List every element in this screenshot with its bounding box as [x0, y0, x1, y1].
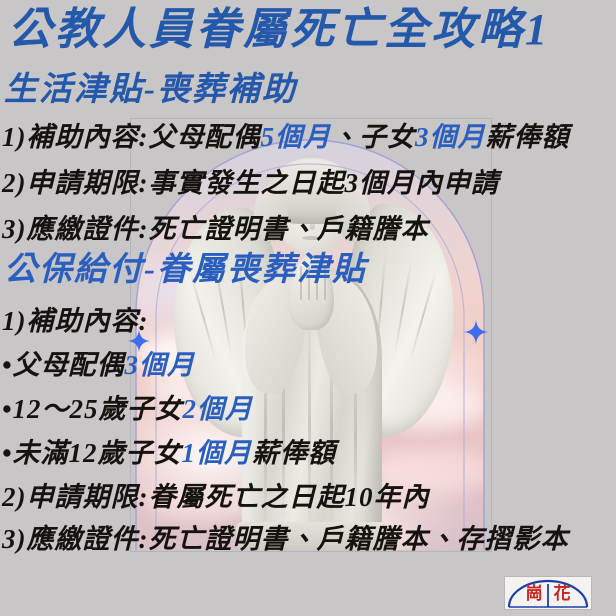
poster-canvas: 公教人員眷屬死亡全攻略1 生活津貼-喪葬補助 1)補助內容:父母配偶5個月、子女…: [0, 0, 616, 616]
list-item-s2-2: 2)申請期限:眷屬死亡之日起10年內: [2, 484, 429, 511]
text-layer: 公教人員眷屬死亡全攻略1 生活津貼-喪葬補助 1)補助內容:父母配偶5個月、子女…: [0, 0, 616, 616]
bullet-item-children-under-12: •未滿12歲子女1個月薪俸額: [2, 440, 336, 467]
text-run-highlight: 3個月: [415, 122, 486, 152]
text-run-highlight: 2個月: [182, 394, 253, 424]
bullet-item-children-12-25: •12～25歲子女2個月: [2, 396, 253, 423]
text-run: •父母配偶: [2, 350, 124, 380]
bullet-item-parents-spouse: •父母配偶3個月: [2, 352, 195, 379]
list-item-s1-2: 2)申請期限:事實發生之日起3個月內申請: [2, 170, 499, 197]
list-item-s2-1: 1)補助內容:: [2, 308, 148, 335]
text-run: •12～25歲子女: [2, 394, 182, 424]
text-run: •未滿12歲子女: [2, 438, 181, 468]
section-heading-1: 生活津貼-喪葬補助: [4, 74, 297, 107]
page-title: 公教人員眷屬死亡全攻略1: [8, 8, 550, 52]
logo-text: 崗花: [505, 585, 591, 602]
text-run: 薪俸額: [252, 438, 336, 468]
text-run: 薪俸額: [485, 122, 569, 152]
text-run: 1)補助內容:父母配偶: [2, 122, 260, 152]
list-item-s1-3: 3)應繳證件:死亡證明書、戶籍謄本: [2, 216, 428, 243]
brand-logo: 崗花: [504, 576, 592, 610]
text-run-highlight: 5個月: [260, 122, 331, 152]
list-item-s2-3: 3)應繳證件:死亡證明書、戶籍謄本、存摺影本: [2, 526, 568, 553]
text-run-highlight: 3個月: [124, 350, 195, 380]
section-heading-2: 公保給付-眷屬喪葬津貼: [4, 254, 367, 287]
text-run-highlight: 1個月: [181, 438, 252, 468]
text-run: 、子女: [331, 122, 415, 152]
list-item-s1-1: 1)補助內容:父母配偶5個月、子女3個月薪俸額: [2, 124, 569, 151]
